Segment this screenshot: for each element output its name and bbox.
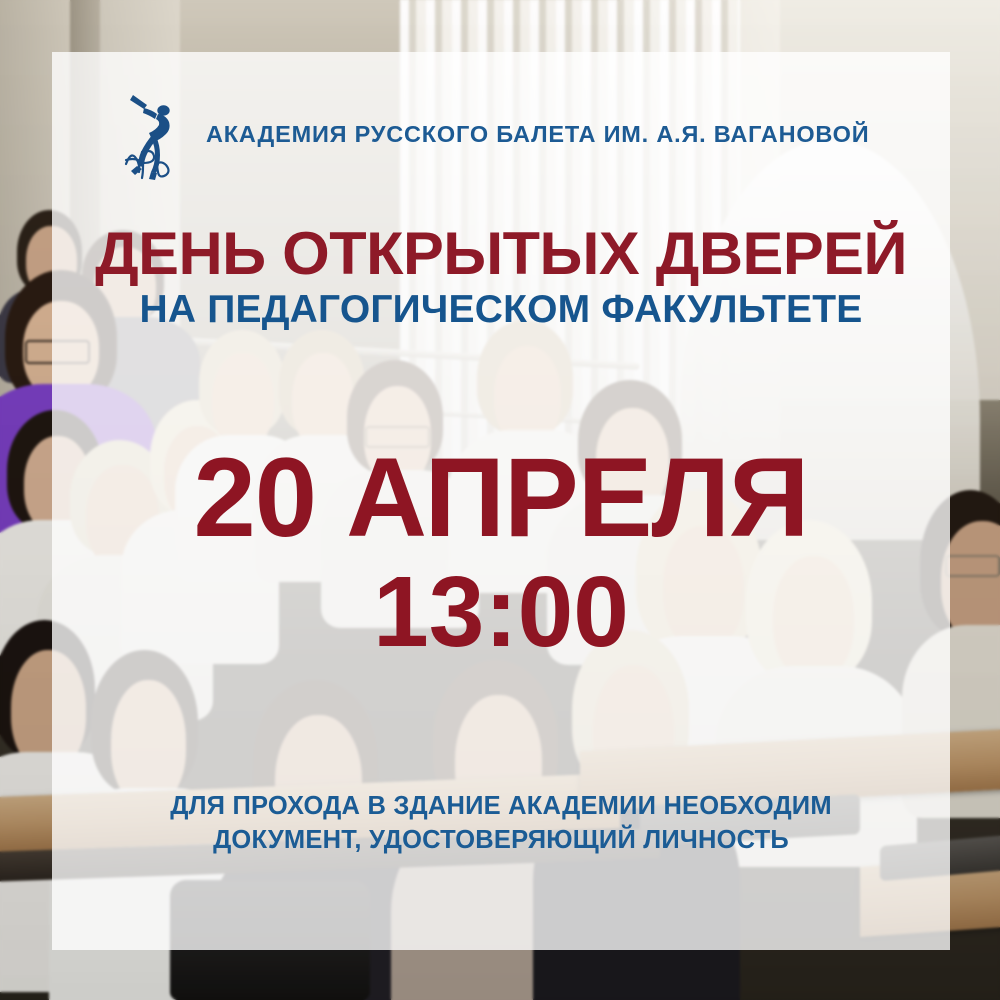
poster: АКАДЕМИЯ РУССКОГО БАЛЕТА ИМ. А.Я. ВАГАНО…	[0, 0, 1000, 1000]
academy-name: АКАДЕМИЯ РУССКОГО БАЛЕТА ИМ. А.Я. ВАГАНО…	[206, 121, 869, 148]
event-date: 20 АПРЕЛЯ	[52, 442, 950, 554]
page-subtitle: НА ПЕДАГОГИЧЕСКОМ ФАКУЛЬТЕТЕ	[52, 290, 950, 329]
ballet-dancer-monogram-logo-icon	[120, 86, 188, 182]
entry-note: ДЛЯ ПРОХОДА В ЗДАНИЕ АКАДЕМИИ НЕОБХОДИМ …	[52, 790, 950, 857]
entry-note-line-1: ДЛЯ ПРОХОДА В ЗДАНИЕ АКАДЕМИИ НЕОБХОДИМ	[52, 790, 950, 824]
poster-content: АКАДЕМИЯ РУССКОГО БАЛЕТА ИМ. А.Я. ВАГАНО…	[52, 52, 950, 950]
event-time: 13:00	[52, 562, 950, 662]
page-title: ДЕНЬ ОТКРЫТЫХ ДВЕРЕЙ	[43, 224, 959, 284]
entry-note-line-2: ДОКУМЕНТ, УДОСТОВЕРЯЮЩИЙ ЛИЧНОСТЬ	[52, 824, 950, 858]
brand-row: АКАДЕМИЯ РУССКОГО БАЛЕТА ИМ. А.Я. ВАГАНО…	[120, 86, 869, 182]
